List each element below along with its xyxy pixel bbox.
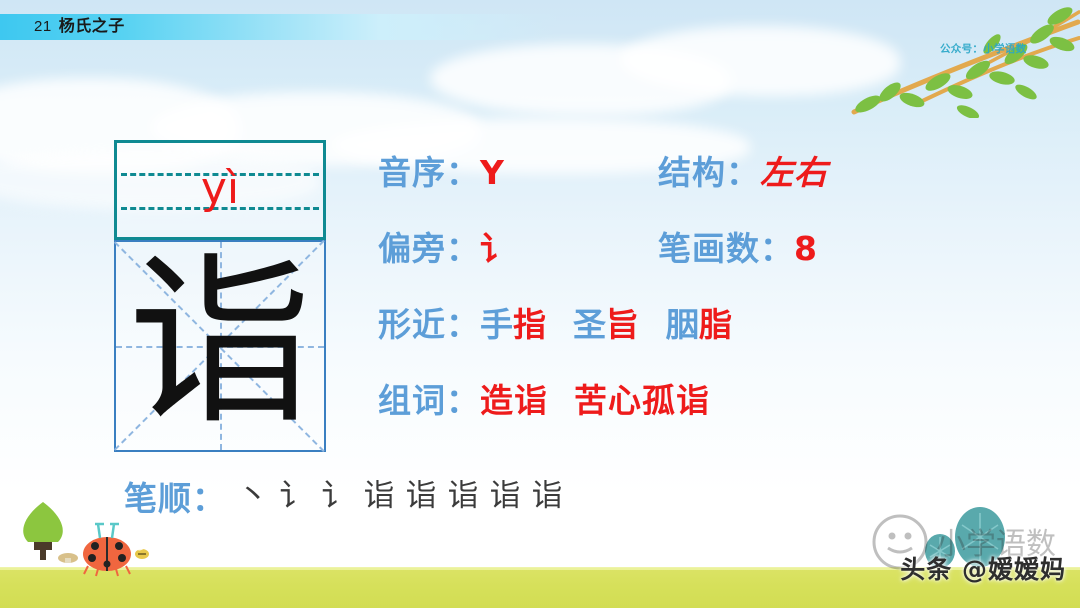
similar-word-1-second: 指 <box>513 305 547 344</box>
stroke-step: 讠 <box>274 481 316 512</box>
character-glyph: 诣 <box>116 242 324 450</box>
similar-word-1-first: 手 <box>480 306 513 343</box>
stroke-step: 诣 <box>358 481 400 512</box>
pinyin-grid-box: yì <box>114 140 326 240</box>
stroke-step: 丶 <box>232 481 274 512</box>
watermark-bottom-right: 头条 @嫒嫒妈 <box>900 550 1066 586</box>
stroke-step: 诣 <box>400 481 442 512</box>
label-bishun: 笔顺： <box>124 479 226 518</box>
label-jiegou: 结构： <box>658 153 760 192</box>
label-zuci: 组词： <box>378 381 480 420</box>
info-panel: 音序：Y 结构：左右 偏旁：讠 笔画数：8 形近：手指圣旨胭脂 组词：造诣苦心孤… <box>378 146 1038 450</box>
stroke-step: 诣 <box>526 481 568 512</box>
value-bihuashu: 8 <box>794 229 818 268</box>
info-cell-xingjin: 形近：手指圣旨胭脂 <box>378 298 733 346</box>
label-yinxu: 音序： <box>378 153 480 192</box>
info-cell-jiegou: 结构：左右 <box>658 146 828 194</box>
compound-word-1: 造诣 <box>480 381 548 420</box>
label-bihuashu: 笔画数： <box>658 229 794 268</box>
value-yinxu: Y <box>480 153 505 192</box>
slide-canvas: 21杨氏之子 <box>0 0 1080 608</box>
page-title: 21杨氏之子 <box>34 15 125 39</box>
label-pianpang: 偏旁： <box>378 229 480 268</box>
info-cell-zuci: 组词：造诣苦心孤诣 <box>378 374 710 422</box>
branch-decoration <box>820 0 1080 118</box>
info-row-compound-words: 组词：造诣苦心孤诣 <box>378 374 1038 450</box>
value-pianpang: 讠 <box>480 229 514 268</box>
watermark-top-right: 公众号：小学语数 <box>940 41 1026 56</box>
label-xingjin: 形近： <box>378 305 480 344</box>
value-jiegou: 左右 <box>760 153 828 192</box>
similar-word-2-second: 旨 <box>606 305 640 344</box>
similar-word-3-first: 胭 <box>666 306 699 343</box>
similar-word-3-second: 脂 <box>699 305 733 344</box>
lesson-number: 21 <box>34 18 52 35</box>
info-row-similar-characters: 形近：手指圣旨胭脂 <box>378 298 1038 374</box>
stroke-step: 讠 <box>316 481 358 512</box>
lesson-title: 杨氏之子 <box>59 18 125 35</box>
info-row-pinyin-structure: 音序：Y 结构：左右 <box>378 146 1038 222</box>
character-grid-box: 诣 <box>114 240 326 452</box>
pinyin-text: yì <box>117 167 323 211</box>
info-row-radical-strokes: 偏旁：讠 笔画数：8 <box>378 222 1038 298</box>
info-cell-yinxu: 音序：Y <box>378 146 505 194</box>
stroke-step: 诣 <box>484 481 526 512</box>
info-cell-pianpang: 偏旁：讠 <box>378 222 514 270</box>
stroke-step: 诣 <box>442 481 484 512</box>
compound-word-2: 苦心孤诣 <box>574 381 710 420</box>
stroke-order-row: 笔顺： 丶讠讠诣诣诣诣诣 <box>124 472 568 520</box>
stroke-order-sequence: 丶讠讠诣诣诣诣诣 <box>232 481 568 512</box>
similar-word-2-first: 圣 <box>573 306 606 343</box>
info-cell-bihuashu: 笔画数：8 <box>658 222 818 270</box>
